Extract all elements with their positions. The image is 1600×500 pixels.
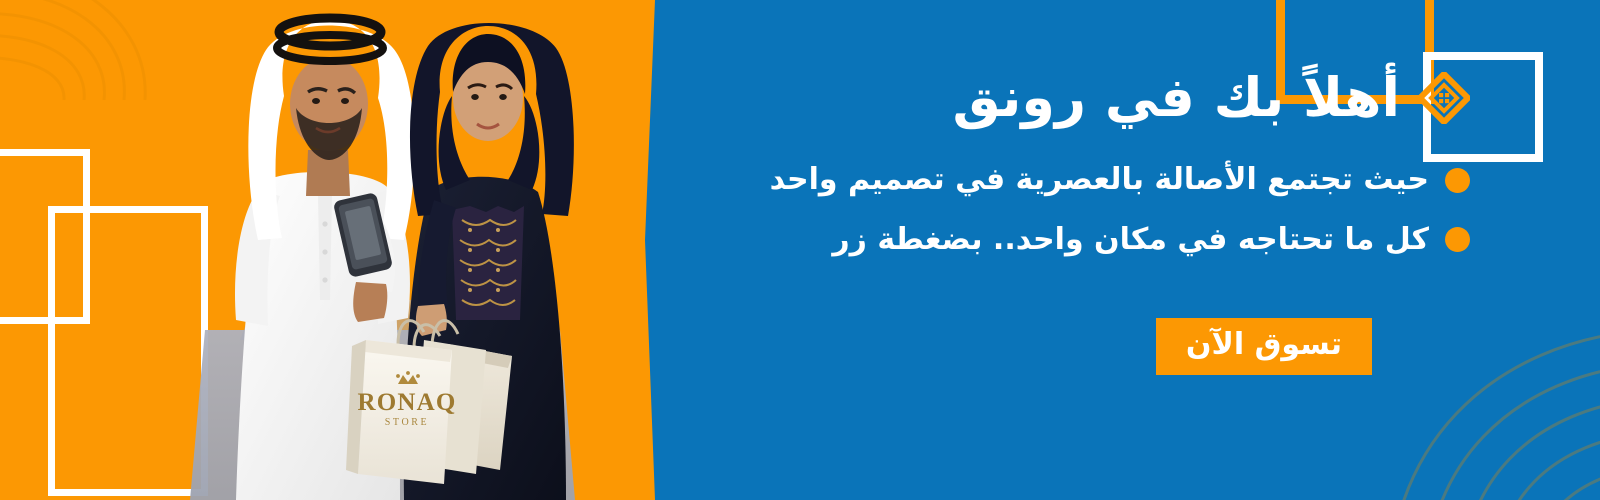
- page-title: أهلاً بك في رونق: [952, 68, 1400, 127]
- shop-now-button[interactable]: تسوق الآن: [1156, 318, 1372, 375]
- svg-text:STORE: STORE: [385, 417, 430, 428]
- list-item-label: حيث تجتمع الأصالة بالعصرية في تصميم واحد: [770, 161, 1429, 199]
- promo-banner: RONAQ STORE أهلاً بك في رونق حيث تجتمع ا…: [0, 0, 1600, 500]
- banner-content: أهلاً بك في رونق حيث تجتمع الأصالة بالعص…: [660, 0, 1600, 500]
- list-item: حيث تجتمع الأصالة بالعصرية في تصميم واحد: [660, 161, 1470, 199]
- emirati-couple-shopping-photo: RONAQ STORE: [0, 0, 660, 500]
- ronaq-diamond-logo-icon: [1418, 72, 1470, 124]
- bullet-dot-icon: [1445, 227, 1470, 252]
- cta-wrapper: تسوق الآن: [660, 318, 1470, 375]
- bullet-dot-icon: [1445, 168, 1470, 193]
- list-item-label: كل ما تحتاجه في مكان واحد.. بضغطة زر: [832, 221, 1429, 259]
- list-item: كل ما تحتاجه في مكان واحد.. بضغطة زر: [660, 221, 1470, 259]
- svg-text:RONAQ: RONAQ: [357, 389, 456, 416]
- headline-row: أهلاً بك في رونق: [660, 68, 1470, 127]
